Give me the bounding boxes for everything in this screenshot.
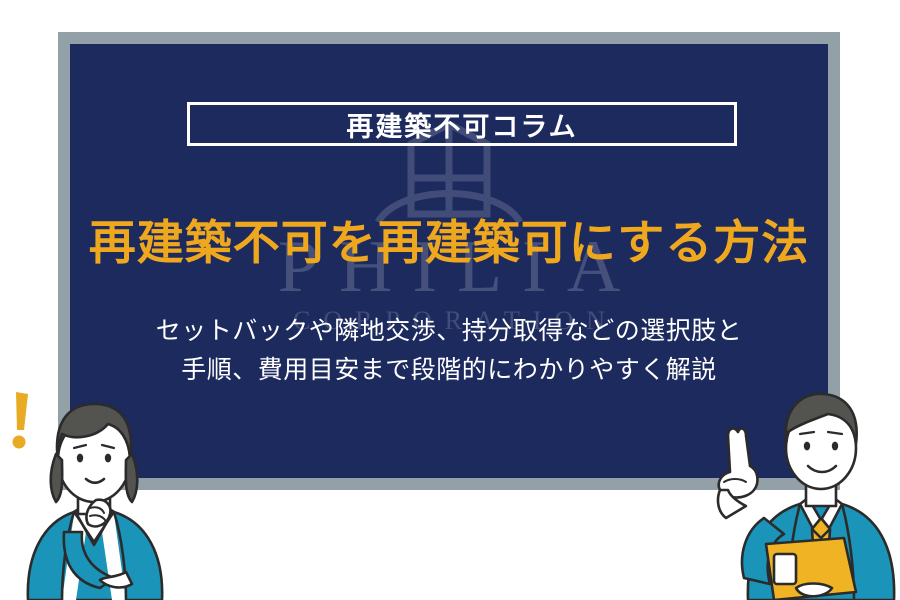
subtitle-line-1: セットバックや隣地交渉、持分取得などの選択肢と	[70, 312, 828, 351]
kicker-label: 再建築不可コラム	[346, 105, 577, 144]
page-title: 再建築不可を再建築可にする方法	[70, 219, 828, 266]
thumbnail-canvas: PHILIA CORPORATION 再建築不可コラム 再建築不可を再建築可にす…	[0, 0, 900, 600]
exclamation-mark-icon	[2, 390, 42, 452]
businessman-pointing-illustration	[704, 378, 900, 600]
kicker-badge: 再建築不可コラム	[187, 102, 737, 146]
